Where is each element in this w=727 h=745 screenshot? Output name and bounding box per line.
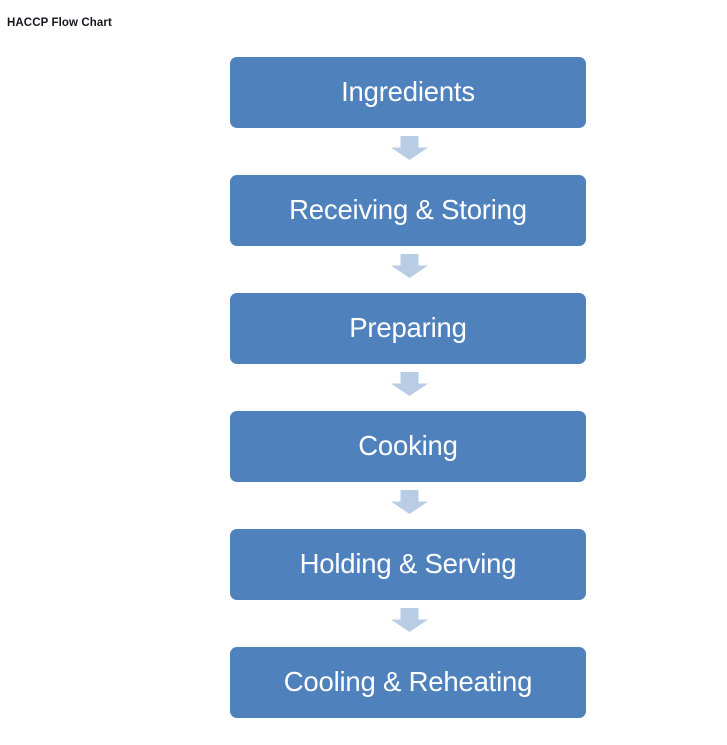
- flow-node-cooling-and-reheating[interactable]: Cooling & Reheating: [230, 647, 586, 718]
- flow-node-label: Cooking: [358, 432, 458, 460]
- flow-node-label: Cooling & Reheating: [284, 668, 532, 696]
- flow-node-receiving-and-storing[interactable]: Receiving & Storing: [230, 175, 586, 246]
- flow-node-label: Receiving & Storing: [289, 196, 527, 224]
- flow-node-cooking[interactable]: Cooking: [230, 411, 586, 482]
- down-arrow-icon: [391, 372, 428, 396]
- flowchart-canvas: Ingredients Receiving & Storing Preparin…: [0, 0, 727, 745]
- down-arrow-icon: [391, 136, 428, 160]
- flow-node-preparing[interactable]: Preparing: [230, 293, 586, 364]
- down-arrow-icon: [391, 490, 428, 514]
- down-arrow-icon: [391, 608, 428, 632]
- flow-node-label: Holding & Serving: [300, 550, 517, 578]
- flow-node-holding-and-serving[interactable]: Holding & Serving: [230, 529, 586, 600]
- down-arrow-icon: [391, 254, 428, 278]
- flow-node-label: Preparing: [349, 314, 466, 342]
- flow-node-ingredients[interactable]: Ingredients: [230, 57, 586, 128]
- flow-node-label: Ingredients: [341, 78, 475, 106]
